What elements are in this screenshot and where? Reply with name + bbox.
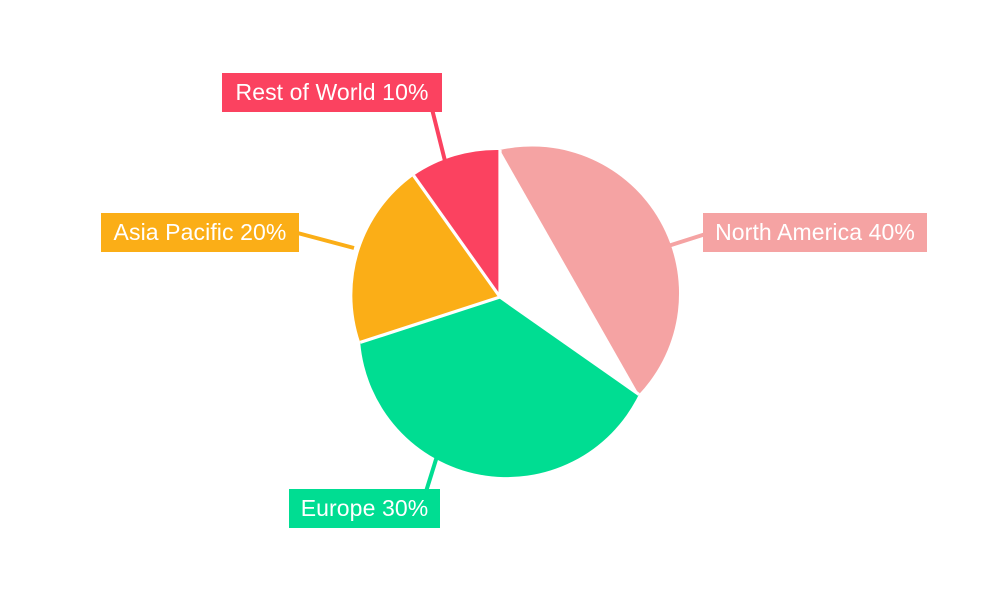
pie-label-rest-of-world[interactable]: Rest of World 10% (222, 73, 442, 112)
pie-chart-canvas (0, 0, 1000, 600)
leader-line-asia-pacific (290, 231, 354, 248)
leader-line-rest-of-world (431, 105, 447, 169)
pie-chart: North America 40% Europe 30% Asia Pacifi… (0, 0, 1000, 600)
pie-label-europe[interactable]: Europe 30% (289, 489, 440, 528)
pie-label-north-america[interactable]: North America 40% (703, 213, 927, 252)
pie-label-asia-pacific[interactable]: Asia Pacific 20% (101, 213, 299, 252)
pie-slices (352, 146, 679, 477)
